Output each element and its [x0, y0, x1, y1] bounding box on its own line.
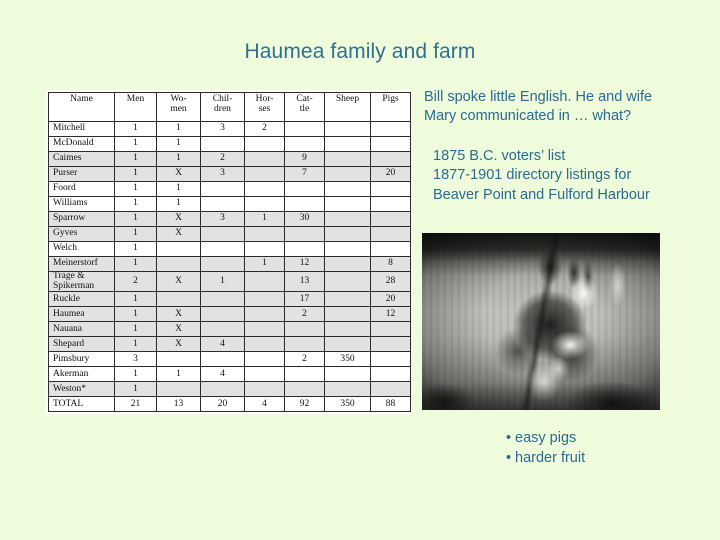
cell-name: Ruckle — [49, 292, 115, 307]
cell-value — [201, 182, 245, 197]
cell-value: 13 — [157, 397, 201, 412]
cell-value — [157, 382, 201, 397]
table-header-row: NameMenWo- menChil- drenHor- sesCat- tle… — [49, 93, 411, 122]
table-row: TOTAL21132049235088 — [49, 397, 411, 412]
cell-value — [325, 182, 371, 197]
cell-value — [325, 212, 371, 227]
column-header-2: Wo- men — [157, 93, 201, 122]
cell-value — [325, 382, 371, 397]
cell-value — [325, 167, 371, 182]
cell-value: 4 — [201, 367, 245, 382]
cell-value: 1 — [115, 307, 157, 322]
table-row: Haumea1X212 — [49, 307, 411, 322]
cell-value — [245, 152, 285, 167]
cell-value — [245, 292, 285, 307]
cell-value: 21 — [115, 397, 157, 412]
cell-value: 3 — [201, 122, 245, 137]
cell-value — [201, 292, 245, 307]
cell-value — [285, 367, 325, 382]
cell-value: 1 — [115, 167, 157, 182]
cell-value: 1 — [157, 122, 201, 137]
cell-value: 1 — [115, 367, 157, 382]
cell-value — [201, 382, 245, 397]
column-header-1: Men — [115, 93, 157, 122]
cell-value — [245, 242, 285, 257]
cell-value — [157, 257, 201, 272]
cell-value — [325, 337, 371, 352]
cell-value: 1 — [115, 137, 157, 152]
cell-name: McDonald — [49, 137, 115, 152]
list-item: •harder fruit — [506, 449, 706, 469]
cell-value: 8 — [371, 257, 411, 272]
table-row: Mitchell1132 — [49, 122, 411, 137]
cell-value — [285, 137, 325, 152]
cell-value — [245, 307, 285, 322]
table-row: Williams11 — [49, 197, 411, 212]
cell-value — [371, 197, 411, 212]
cell-value — [285, 382, 325, 397]
cell-value: 12 — [285, 257, 325, 272]
cell-value — [325, 242, 371, 257]
cell-value — [325, 257, 371, 272]
column-header-7: Pigs — [371, 93, 411, 122]
historic-photograph — [422, 233, 660, 410]
cell-name: Haumea — [49, 307, 115, 322]
list-item-label: easy pigs — [515, 430, 576, 446]
cell-value: 20 — [201, 397, 245, 412]
cell-name: Mitchell — [49, 122, 115, 137]
cell-value: 17 — [285, 292, 325, 307]
column-header-0: Name — [49, 93, 115, 122]
cell-value: 3 — [201, 212, 245, 227]
cell-value — [325, 122, 371, 137]
cell-value: 1 — [157, 197, 201, 212]
census-table: NameMenWo- menChil- drenHor- sesCat- tle… — [48, 92, 411, 412]
cell-name: Weston* — [49, 382, 115, 397]
cell-value — [285, 337, 325, 352]
cell-value — [201, 137, 245, 152]
cell-value: 1 — [201, 272, 245, 292]
cell-value: 1 — [115, 152, 157, 167]
cell-value: 1 — [115, 322, 157, 337]
cell-value: 350 — [325, 397, 371, 412]
cell-value — [245, 167, 285, 182]
cell-value: 1 — [115, 227, 157, 242]
cell-value — [325, 292, 371, 307]
census-table-container: NameMenWo- menChil- drenHor- sesCat- tle… — [46, 90, 411, 414]
cell-value — [157, 242, 201, 257]
table-row: Foord11 — [49, 182, 411, 197]
cell-value: 1 — [245, 257, 285, 272]
sources-text-block: 1875 B.C. voters’ list 1877-1901 directo… — [433, 147, 717, 205]
cell-value: 9 — [285, 152, 325, 167]
cell-value: 13 — [285, 272, 325, 292]
cell-value — [325, 322, 371, 337]
table-row: Welch1 — [49, 242, 411, 257]
cell-value: 1 — [115, 182, 157, 197]
slide-canvas: Haumea family and farm NameMenWo- menChi… — [0, 0, 720, 540]
cell-value — [201, 322, 245, 337]
cell-value — [245, 322, 285, 337]
source-line-1: 1875 B.C. voters’ list — [433, 147, 717, 166]
cell-value — [245, 352, 285, 367]
table-row: Trage & Spikerman2X11328 — [49, 272, 411, 292]
cell-value — [245, 272, 285, 292]
cell-value — [245, 227, 285, 242]
cell-value — [325, 367, 371, 382]
source-line-2: 1877-1901 directory listings for — [433, 166, 717, 185]
cell-value — [285, 122, 325, 137]
cell-value: 2 — [201, 152, 245, 167]
cell-name: Akerman — [49, 367, 115, 382]
bullet-marker-icon: • — [506, 429, 515, 449]
cell-value — [371, 382, 411, 397]
cell-value — [371, 122, 411, 137]
cell-name: Trage & Spikerman — [49, 272, 115, 292]
cell-value — [245, 137, 285, 152]
list-item: •easy pigs — [506, 429, 706, 449]
cell-value: 1 — [157, 152, 201, 167]
cell-value — [201, 352, 245, 367]
cell-value: 1 — [157, 182, 201, 197]
cell-value — [245, 197, 285, 212]
cell-name: Shepard — [49, 337, 115, 352]
cell-value: X — [157, 272, 201, 292]
cell-value — [325, 272, 371, 292]
cell-value — [245, 182, 285, 197]
bullet-marker-icon: • — [506, 449, 515, 469]
cell-value: 1 — [115, 242, 157, 257]
cell-value: 4 — [201, 337, 245, 352]
cell-value: 20 — [371, 292, 411, 307]
cell-value: 2 — [285, 307, 325, 322]
cell-name: Welch — [49, 242, 115, 257]
cell-value: 350 — [325, 352, 371, 367]
cell-value: X — [157, 167, 201, 182]
table-row: Nauana1X — [49, 322, 411, 337]
cell-value: 1 — [115, 197, 157, 212]
cell-value: 92 — [285, 397, 325, 412]
cell-value — [201, 242, 245, 257]
table-row: Gyves1X — [49, 227, 411, 242]
cell-value: 3 — [201, 167, 245, 182]
cell-value — [371, 212, 411, 227]
cell-name: Williams — [49, 197, 115, 212]
photo-vignette — [422, 233, 660, 410]
cell-value: 7 — [285, 167, 325, 182]
cell-value: 1 — [245, 212, 285, 227]
table-row: McDonald11 — [49, 137, 411, 152]
cell-name: Gyves — [49, 227, 115, 242]
cell-value: 1 — [157, 137, 201, 152]
cell-value — [325, 137, 371, 152]
list-item-label: harder fruit — [515, 450, 585, 466]
cell-value — [325, 307, 371, 322]
cell-value — [371, 367, 411, 382]
cell-value: 28 — [371, 272, 411, 292]
page-title: Haumea family and farm — [0, 40, 720, 64]
cell-name: Caimes — [49, 152, 115, 167]
table-row: Ruckle11720 — [49, 292, 411, 307]
cell-value — [325, 227, 371, 242]
cell-value: 1 — [115, 212, 157, 227]
table-row: Caimes1129 — [49, 152, 411, 167]
cell-value: X — [157, 337, 201, 352]
cell-value — [201, 197, 245, 212]
cell-value: X — [157, 212, 201, 227]
cell-value — [371, 352, 411, 367]
cell-value — [245, 337, 285, 352]
cell-value: X — [157, 322, 201, 337]
cell-value: 2 — [285, 352, 325, 367]
cell-value — [325, 197, 371, 212]
cell-value — [245, 382, 285, 397]
cell-value: X — [157, 307, 201, 322]
cell-value: 12 — [371, 307, 411, 322]
column-header-4: Hor- ses — [245, 93, 285, 122]
cell-value: 1 — [115, 337, 157, 352]
cell-value — [371, 242, 411, 257]
cell-value: 1 — [115, 292, 157, 307]
cell-name: Pimsbury — [49, 352, 115, 367]
cell-value — [371, 137, 411, 152]
cell-value: 4 — [245, 397, 285, 412]
table-row: Weston*1 — [49, 382, 411, 397]
cell-value — [371, 182, 411, 197]
cell-value — [201, 257, 245, 272]
cell-value — [201, 227, 245, 242]
cell-value — [371, 152, 411, 167]
column-header-3: Chil- dren — [201, 93, 245, 122]
table-row: Pimsbury32350 — [49, 352, 411, 367]
cell-value — [285, 182, 325, 197]
cell-name: TOTAL — [49, 397, 115, 412]
cell-value — [371, 227, 411, 242]
column-header-6: Sheep — [325, 93, 371, 122]
bullet-list: •easy pigs•harder fruit — [506, 429, 706, 468]
cell-name: Nauana — [49, 322, 115, 337]
cell-value: 2 — [115, 272, 157, 292]
source-line-3: Beaver Point and Fulford Harbour — [433, 186, 717, 205]
table-row: Akerman114 — [49, 367, 411, 382]
cell-value: 88 — [371, 397, 411, 412]
column-header-5: Cat- tle — [285, 93, 325, 122]
question-text-block: Bill spoke little English. He and wife M… — [424, 88, 716, 126]
cell-value — [157, 292, 201, 307]
table-row: Shepard1X4 — [49, 337, 411, 352]
table-row: Sparrow1X3130 — [49, 212, 411, 227]
cell-value: 2 — [245, 122, 285, 137]
table-row: Meinerstorf11128 — [49, 257, 411, 272]
cell-name: Foord — [49, 182, 115, 197]
cell-value: 1 — [115, 382, 157, 397]
cell-value: 20 — [371, 167, 411, 182]
cell-name: Meinerstorf — [49, 257, 115, 272]
cell-value: 1 — [157, 367, 201, 382]
census-table-body: Mitchell1132McDonald11Caimes1129Purser1X… — [49, 122, 411, 412]
cell-value: 1 — [115, 257, 157, 272]
cell-value — [157, 352, 201, 367]
cell-value — [285, 322, 325, 337]
cell-value — [245, 367, 285, 382]
cell-value: 1 — [115, 122, 157, 137]
cell-value: X — [157, 227, 201, 242]
cell-value — [371, 337, 411, 352]
cell-value — [371, 322, 411, 337]
cell-value — [285, 242, 325, 257]
cell-value: 3 — [115, 352, 157, 367]
cell-value — [201, 307, 245, 322]
cell-value: 30 — [285, 212, 325, 227]
cell-value — [285, 197, 325, 212]
question-line-1: Bill spoke little English. He and wife — [424, 88, 716, 107]
cell-name: Purser — [49, 167, 115, 182]
table-row: Purser1X3720 — [49, 167, 411, 182]
cell-value — [285, 227, 325, 242]
cell-name: Sparrow — [49, 212, 115, 227]
cell-value — [325, 152, 371, 167]
question-line-2: Mary communicated in … what? — [424, 107, 716, 126]
